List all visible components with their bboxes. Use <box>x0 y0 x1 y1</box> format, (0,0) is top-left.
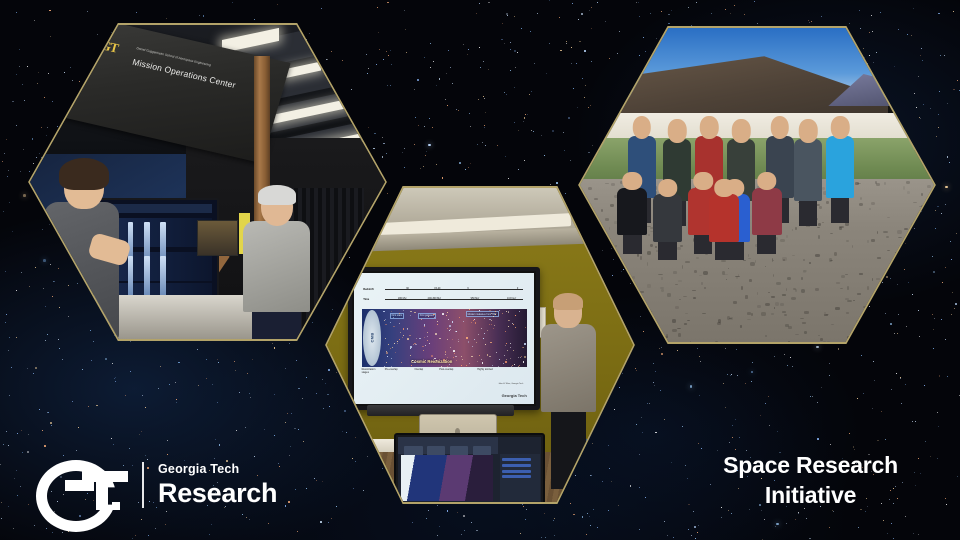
chat-message <box>502 470 531 473</box>
slide-axis-group: Redshift 30 15-20 6 0 Time 180 Myr 200-3… <box>362 287 527 307</box>
stage-label-0: Reionization stages <box>362 368 382 374</box>
torso <box>653 194 683 241</box>
title-line-2: Initiative <box>723 481 898 510</box>
team-member <box>707 179 741 261</box>
poster-canvas: GT Daniel Guggenheim School of Aerospace… <box>0 0 960 540</box>
tick-time-0: 180 Myr <box>398 297 407 300</box>
display-screen: Redshift 30 15-20 6 0 Time 180 Myr 200-3… <box>348 267 540 410</box>
chat-panel <box>500 454 540 501</box>
chat-message <box>502 475 531 478</box>
slide-gt-logo: Georgia Tech <box>502 393 527 398</box>
team-member <box>750 172 784 254</box>
legs <box>757 233 776 254</box>
tick-time-3: 13.8 Gyr <box>507 297 516 300</box>
stage-label-2: Overlap <box>414 368 423 371</box>
presentation-slide: Redshift 30 15-20 6 0 Time 180 Myr 200-3… <box>354 273 534 404</box>
axis-label-redshift: Redshift <box>363 288 373 291</box>
head <box>715 179 735 197</box>
video-call-app <box>398 437 541 502</box>
team-member <box>792 119 824 226</box>
slide-image-title: Cosmic Reionization <box>411 359 452 364</box>
torso <box>541 324 596 412</box>
torso <box>617 188 647 235</box>
head <box>622 172 642 190</box>
tick-time-2: 950 Myr <box>471 297 480 300</box>
legs <box>658 239 677 260</box>
wall-poster <box>197 220 238 257</box>
slide-credit: John H. Wise, Georgia Tech <box>498 383 523 385</box>
torso <box>709 194 739 241</box>
gt-letter-t-stem <box>96 471 108 510</box>
stage-label-1: Pre-overlap <box>385 368 398 371</box>
cmb-badge: CMB <box>363 310 381 365</box>
axis-label-time: Time <box>363 298 369 301</box>
lockup-divider <box>142 462 144 508</box>
lockup-wordmark: Georgia Tech Research <box>158 463 277 507</box>
georgia-tech-research-lockup: Georgia Tech Research <box>36 458 277 512</box>
person-visitor <box>243 188 310 339</box>
slide-tag-2: Modern Galaxies from HST <box>466 311 499 317</box>
org-name: Georgia Tech <box>158 463 277 477</box>
torso <box>243 221 310 311</box>
team-member <box>824 116 856 223</box>
conference-laptop <box>394 433 545 502</box>
hair <box>258 185 296 205</box>
tick-redshift-1: 15-20 <box>434 287 440 290</box>
cmb-label: CMB <box>370 333 375 343</box>
torso <box>794 139 822 201</box>
chat-message <box>502 464 531 467</box>
legs <box>715 239 734 260</box>
team-member <box>651 179 685 261</box>
hair <box>59 158 108 190</box>
slide-stage-row: Reionization stages Pre-overlap Overlap … <box>362 368 527 380</box>
legs <box>831 195 849 223</box>
chat-message <box>502 458 531 461</box>
slide-simulation-image: CMB First stars First galaxies Modern Ga… <box>362 309 527 367</box>
tick-redshift-2: 6 <box>467 287 468 290</box>
shared-slide <box>401 455 492 501</box>
head <box>757 172 777 190</box>
slide-tag-0: First stars <box>390 313 405 319</box>
torso <box>752 188 782 235</box>
tick-redshift-3: 0 <box>517 287 518 290</box>
gt-trademark-dot <box>112 502 120 510</box>
legs <box>623 233 642 254</box>
hair <box>553 293 583 311</box>
team-member <box>615 172 649 254</box>
banner-title-text: Mission Operations Center <box>131 56 237 89</box>
title-line-1: Space Research <box>723 451 898 480</box>
tick-time-1: 200-300 Myr <box>428 297 441 300</box>
gt-monogram-icon <box>36 458 128 512</box>
tick-redshift-0: 30 <box>406 287 409 290</box>
stage-label-4: Highly ionized <box>477 368 493 371</box>
torso <box>826 136 854 198</box>
head <box>658 179 678 197</box>
page-title: Space Research Initiative <box>723 451 898 510</box>
legs <box>799 198 817 226</box>
stage-label-3: Post-overlap <box>439 368 453 371</box>
org-unit: Research <box>158 479 277 507</box>
